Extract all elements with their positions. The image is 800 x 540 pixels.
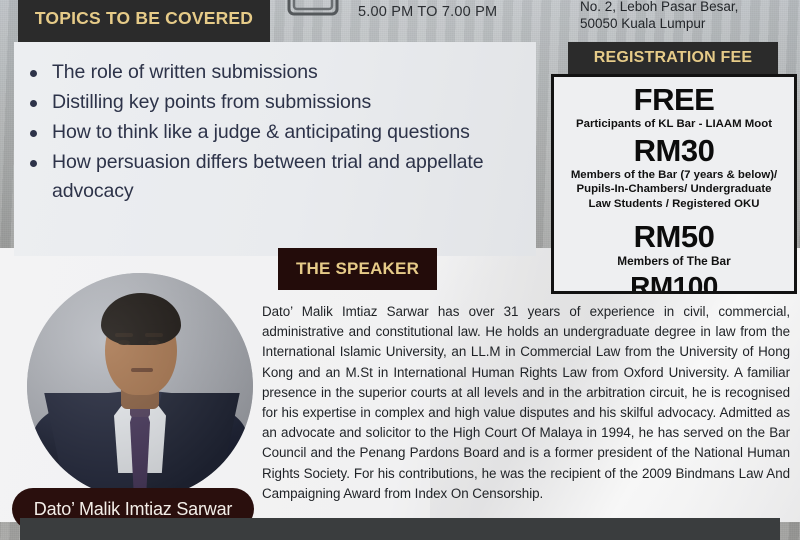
fee-amount: FREE bbox=[562, 83, 786, 117]
list-item: How persuasion differs between trial and… bbox=[48, 148, 518, 206]
fee-amount: RM100 bbox=[562, 271, 786, 295]
speaker-header-label: THE SPEAKER bbox=[296, 259, 419, 279]
event-time: 5.00 PM TO 7.00 PM bbox=[358, 4, 497, 20]
registration-header-tab: REGISTRATION FEE bbox=[568, 42, 778, 74]
speaker-name: Dato’ Malik Imtiaz Sarwar bbox=[34, 499, 232, 520]
fee-amount: RM50 bbox=[562, 220, 786, 254]
registration-header-label: REGISTRATION FEE bbox=[594, 49, 752, 67]
topics-list: The role of written submissions Distilli… bbox=[14, 42, 536, 206]
fee-amount: RM30 bbox=[562, 134, 786, 168]
speaker-bio: Dato’ Malik Imtiaz Sarwar has over 31 ye… bbox=[262, 302, 790, 504]
list-item: The role of written submissions bbox=[48, 58, 518, 87]
fee-description: Members of The Bar bbox=[562, 254, 786, 269]
portrait-vignette bbox=[27, 273, 253, 499]
event-address: No. 2, Leboh Pasar Besar, 50050 Kuala Lu… bbox=[580, 0, 738, 32]
fee-description: Members of the Bar (7 years & below)/ Pu… bbox=[562, 168, 786, 212]
list-item: Distilling key points from submissions bbox=[48, 88, 518, 117]
event-poster: TOPICS TO BE COVERED 5.00 PM TO 7.00 PM … bbox=[0, 0, 800, 540]
topics-panel: The role of written submissions Distilli… bbox=[14, 42, 536, 256]
speaker-portrait bbox=[27, 273, 253, 499]
topics-header-label: TOPICS TO BE COVERED bbox=[35, 8, 253, 29]
fee-description: Participants of KL Bar - LIAAM Moot bbox=[562, 117, 786, 132]
bottom-bar bbox=[20, 518, 780, 540]
topics-header-tab: TOPICS TO BE COVERED bbox=[18, 0, 270, 44]
list-item: How to think like a judge & anticipating… bbox=[48, 118, 518, 147]
clock-icon bbox=[283, 0, 343, 28]
speaker-header-tab: THE SPEAKER bbox=[278, 248, 437, 290]
registration-fee-box: FREE Participants of KL Bar - LIAAM Moot… bbox=[551, 74, 797, 294]
